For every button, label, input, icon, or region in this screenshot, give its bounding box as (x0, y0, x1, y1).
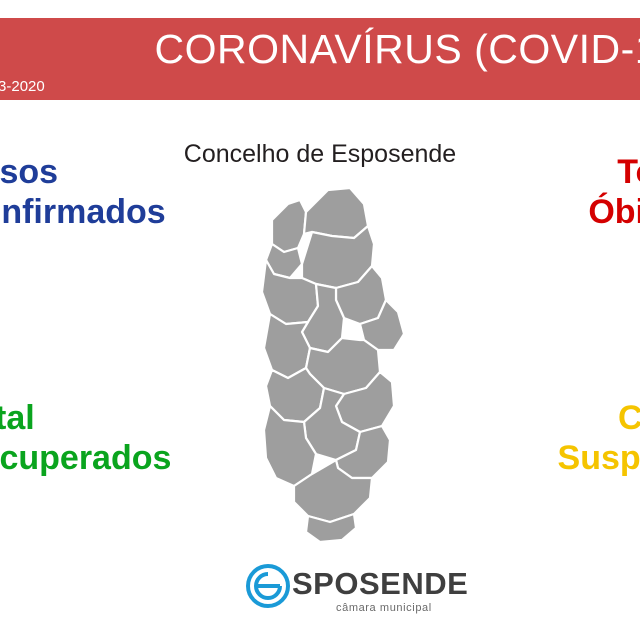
stat-deaths-value: 0 (588, 232, 640, 306)
stat-recovered-label-2: Recuperados (0, 438, 171, 478)
stat-confirmed-cases: Casos Confirmados 3 (0, 152, 166, 306)
stat-suspect-label-2: Suspeitos (558, 438, 640, 478)
stat-total-deaths: Total Óbitos 0 (588, 152, 640, 306)
header-banner: CORONAVÍRUS (COVID-19) 23-03-2020 (0, 18, 640, 100)
stat-recovered-value: 0 (0, 478, 171, 552)
stat-confirmed-value: 3 (0, 232, 166, 306)
logo-e-mark-icon (246, 564, 290, 608)
page-title: CORONAVÍRUS (COVID-19) (105, 18, 640, 80)
stat-suspect-value: 0 (558, 478, 640, 552)
stat-recovered-label-1: Total (0, 398, 171, 438)
stat-total-recovered: Total Recuperados 0 (0, 398, 171, 552)
report-date: 23-03-2020 (0, 78, 45, 95)
esposende-logo: SPOSENDE câmara municipal (240, 562, 416, 624)
stat-deaths-label-2: Óbitos (588, 192, 640, 232)
stat-deaths-label-1: Total (588, 152, 640, 192)
stat-confirmed-label-2: Confirmados (0, 192, 166, 232)
esposende-map (232, 182, 422, 552)
logo-wordmark: SPOSENDE (292, 566, 468, 602)
map-svg (232, 182, 422, 552)
stat-suspect-label-1: Casos (558, 398, 640, 438)
logo-subtitle: câmara municipal (336, 602, 432, 614)
stat-confirmed-label-1: Casos (0, 152, 166, 192)
stat-suspect-cases: Casos Suspeitos 0 (558, 398, 640, 552)
